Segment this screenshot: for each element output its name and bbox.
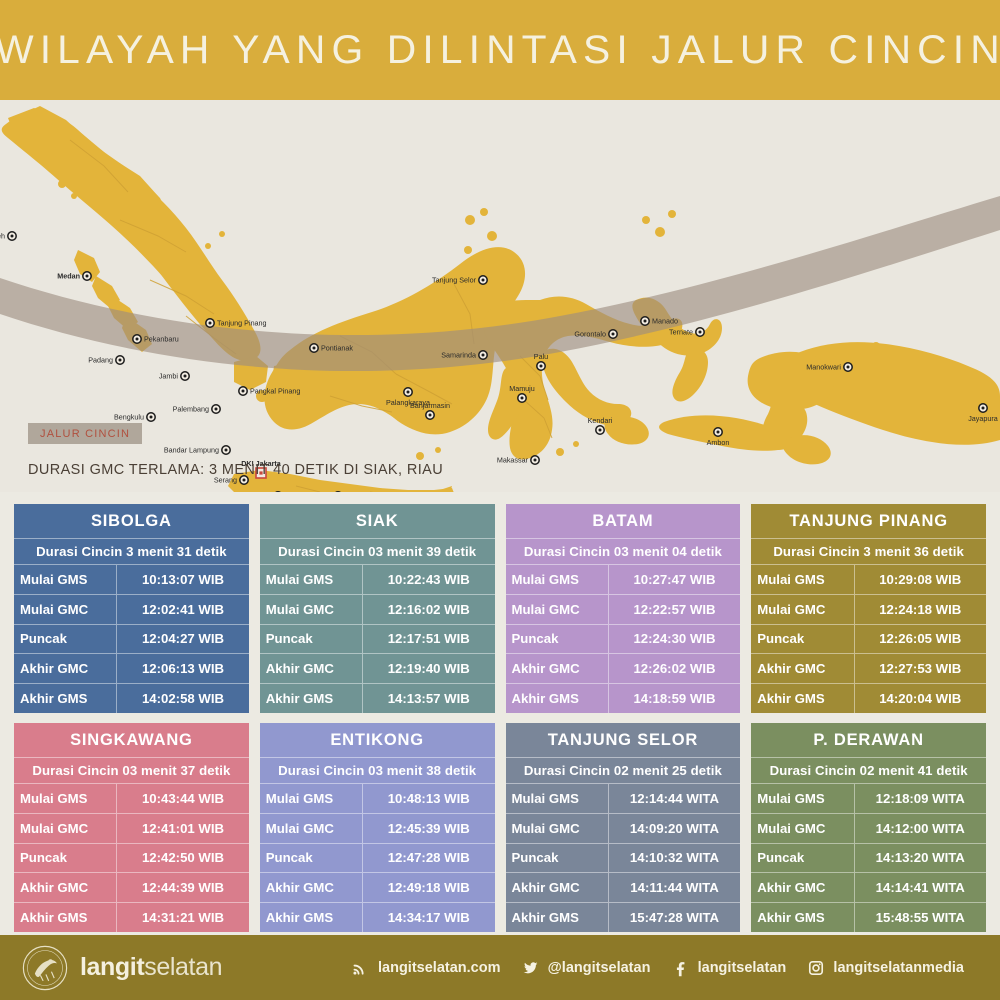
city-label: Medan [57,272,80,281]
city-label: Samarinda [441,351,476,360]
row-value: 12:41:01 WIB [117,821,248,836]
city-label: Manokwari [806,363,841,372]
card-city-name: BATAM [506,504,741,539]
row-value: 10:48:13 WIB [363,791,494,806]
city-label: Banda Aceh [0,232,5,241]
city-marker: Pekanbaru [133,335,179,344]
timing-card: SIBOLGADurasi Cincin 3 menit 31 detikMul… [14,504,249,713]
row-label: Akhir GMC [260,654,363,683]
city-label: Bandar Lampung [164,446,219,455]
table-row: Puncak12:47:28 WIB [260,844,495,874]
table-row: Mulai GMS10:43:44 WIB [14,784,249,814]
city-label: Palembang [173,405,209,414]
twitter-icon [522,959,540,977]
city-label: Tanjung Pinang [217,319,267,328]
legend-jalur-cincin: JALUR CINCIN [28,423,142,444]
row-value: 12:14:44 WITA [609,791,740,806]
city-label: Pekanbaru [144,335,179,344]
row-label: Mulai GMC [751,814,854,843]
row-label: Akhir GMS [751,903,854,932]
rss-icon [352,959,370,977]
legend-label: JALUR CINCIN [40,428,130,440]
row-value: 12:18:09 WITA [855,791,986,806]
row-label: Akhir GMS [506,903,609,932]
table-row: Akhir GMC12:26:02 WIB [506,654,741,684]
table-row: Akhir GMC14:11:44 WITA [506,873,741,903]
city-label: Ambon [707,438,730,447]
city-label: Palu [534,352,548,361]
row-value: 14:10:32 WITA [609,850,740,865]
brand-wordmark: langitselatan [80,953,222,982]
timing-card: TANJUNG PINANGDurasi Cincin 3 menit 36 d… [751,504,986,713]
row-label: Puncak [260,844,363,873]
row-label: Akhir GMS [14,903,117,932]
card-city-name: ENTIKONG [260,723,495,758]
social-label: @langitselatan [548,960,651,976]
row-value: 15:48:55 WITA [855,910,986,925]
row-value: 12:45:39 WIB [363,821,494,836]
table-row: Mulai GMC12:16:02 WIB [260,595,495,625]
row-label: Mulai GMS [260,784,363,813]
card-city-name: SINGKAWANG [14,723,249,758]
row-value: 10:29:08 WIB [855,572,986,587]
row-label: Mulai GMC [14,595,117,624]
city-label: Mamuju [509,384,535,393]
table-row: Akhir GMS14:34:17 WIB [260,903,495,932]
row-value: 10:43:44 WIB [117,791,248,806]
timing-card: BATAMDurasi Cincin 03 menit 04 detikMula… [506,504,741,713]
row-label: Mulai GMC [506,814,609,843]
row-value: 12:26:05 WIB [855,631,986,646]
row-value: 14:12:00 WITA [855,821,986,836]
row-label: Akhir GMS [506,684,609,713]
table-row: Mulai GMC12:02:41 WIB [14,595,249,625]
timing-card: ENTIKONGDurasi Cincin 03 menit 38 detikM… [260,723,495,932]
row-label: Mulai GMC [260,814,363,843]
city-marker: Manado [641,317,678,326]
card-duration: Durasi Cincin 3 menit 36 detik [751,539,986,565]
row-value: 12:19:40 WIB [363,661,494,676]
table-row: Akhir GMC14:14:41 WITA [751,873,986,903]
card-city-name: TANJUNG SELOR [506,723,741,758]
row-label: Akhir GMC [260,873,363,902]
table-row: Akhir GMS14:31:21 WIB [14,903,249,932]
table-row: Akhir GMC12:27:53 WIB [751,654,986,684]
langitselatan-seal-icon [22,945,68,991]
table-row: Mulai GMS12:18:09 WITA [751,784,986,814]
table-row: Mulai GMS10:29:08 WIB [751,565,986,595]
city-label: Pontianak [321,344,353,353]
instagram-icon [807,959,825,977]
row-label: Akhir GMC [506,654,609,683]
brand-bold: langit [80,953,144,981]
table-row: Akhir GMC12:49:18 WIB [260,873,495,903]
table-row: Mulai GMS12:14:44 WITA [506,784,741,814]
row-label: Mulai GMS [751,565,854,594]
social-label: langitselatan.com [378,960,500,976]
row-value: 14:11:44 WITA [609,880,740,895]
table-row: Mulai GMC14:12:00 WITA [751,814,986,844]
row-value: 12:47:28 WIB [363,850,494,865]
row-label: Mulai GMS [506,565,609,594]
city-label: Gorontalo [574,330,606,339]
row-value: 12:42:50 WIB [117,850,248,865]
row-label: Puncak [506,844,609,873]
row-value: 12:06:13 WIB [117,661,248,676]
row-value: 12:04:27 WIB [117,631,248,646]
city-label: Jambi [159,372,179,381]
city-marker: Ternate [669,328,704,337]
row-label: Akhir GMC [14,873,117,902]
table-row: Puncak12:42:50 WIB [14,844,249,874]
row-value: 14:14:41 WITA [855,880,986,895]
row-value: 10:27:47 WIB [609,572,740,587]
row-label: Puncak [14,625,117,654]
card-duration: Durasi Cincin 02 menit 25 detik [506,758,741,784]
row-value: 12:44:39 WIB [117,880,248,895]
row-value: 12:16:02 WIB [363,602,494,617]
row-value: 10:22:43 WIB [363,572,494,587]
city-label: Banjarmasin [410,401,450,410]
row-value: 14:13:57 WIB [363,691,494,706]
row-value: 12:02:41 WIB [117,602,248,617]
card-duration: Durasi Cincin 3 menit 31 detik [14,539,249,565]
table-row: Akhir GMC12:44:39 WIB [14,873,249,903]
table-row: Akhir GMS14:20:04 WIB [751,684,986,713]
row-label: Puncak [260,625,363,654]
row-label: Akhir GMC [751,654,854,683]
row-label: Akhir GMS [14,684,117,713]
table-row: Akhir GMS14:18:59 WIB [506,684,741,713]
facebook-icon [672,959,690,977]
table-row: Akhir GMS14:13:57 WIB [260,684,495,713]
row-label: Mulai GMC [751,595,854,624]
city-marker: Manokwari [806,363,852,372]
card-city-name: TANJUNG PINANG [751,504,986,539]
city-label: Kendari [588,416,613,425]
table-row: Mulai GMS10:48:13 WIB [260,784,495,814]
city-marker: Gorontalo [574,330,617,339]
row-label: Akhir GMS [260,684,363,713]
row-label: Akhir GMC [751,873,854,902]
table-row: Akhir GMS14:02:58 WIB [14,684,249,713]
table-row: Mulai GMS10:13:07 WIB [14,565,249,595]
row-value: 14:13:20 WITA [855,850,986,865]
card-city-name: SIAK [260,504,495,539]
row-value: 14:18:59 WIB [609,691,740,706]
row-label: Mulai GMC [260,595,363,624]
row-value: 12:24:18 WIB [855,602,986,617]
row-label: Puncak [14,844,117,873]
card-duration: Durasi Cincin 02 menit 41 detik [751,758,986,784]
card-duration: Durasi Cincin 03 menit 04 detik [506,539,741,565]
row-value: 14:31:21 WIB [117,910,248,925]
row-value: 12:22:57 WIB [609,602,740,617]
city-timing-cards: SIBOLGADurasi Cincin 3 menit 31 detikMul… [0,492,1000,932]
city-label: Pangkal Pinang [250,387,300,396]
city-label: Jayapura [968,414,998,423]
social-link[interactable]: langitselatanmedia [807,959,964,977]
city-marker: Pontianak [310,344,354,353]
row-value: 12:49:18 WIB [363,880,494,895]
row-label: Mulai GMS [260,565,363,594]
city-label: Makassar [497,456,529,465]
card-duration: Durasi Cincin 03 menit 38 detik [260,758,495,784]
timing-card: P. DERAWANDurasi Cincin 02 menit 41 deti… [751,723,986,932]
row-value: 14:09:20 WITA [609,821,740,836]
card-city-name: P. DERAWAN [751,723,986,758]
table-row: Puncak14:10:32 WITA [506,844,741,874]
city-marker: Samarinda [441,351,487,360]
table-row: Puncak12:04:27 WIB [14,625,249,655]
table-row: Mulai GMC14:09:20 WITA [506,814,741,844]
social-label: langitselatan [698,960,787,976]
infographic-page: WILAYAH YANG DILINTASI JALUR CINCIN [0,0,1000,1000]
table-row: Mulai GMS10:27:47 WIB [506,565,741,595]
table-row: Mulai GMS10:22:43 WIB [260,565,495,595]
row-value: 10:13:07 WIB [117,572,248,587]
timing-card: SIAKDurasi Cincin 03 menit 39 detikMulai… [260,504,495,713]
row-value: 12:26:02 WIB [609,661,740,676]
table-row: Mulai GMC12:24:18 WIB [751,595,986,625]
row-value: 15:47:28 WITA [609,910,740,925]
social-label: langitselatanmedia [833,960,964,976]
timing-card: TANJUNG SELORDurasi Cincin 02 menit 25 d… [506,723,741,932]
map-area: Banda AcehMedanPekanbaruPadangTanjung Pi… [0,100,1000,492]
table-row: Mulai GMC12:45:39 WIB [260,814,495,844]
city-label: Bengkulu [114,413,144,422]
card-city-name: SIBOLGA [14,504,249,539]
timing-card: SINGKAWANGDurasi Cincin 03 menit 37 deti… [14,723,249,932]
table-row: Puncak14:13:20 WITA [751,844,986,874]
row-label: Mulai GMS [14,565,117,594]
table-row: Puncak12:24:30 WIB [506,625,741,655]
card-duration: Durasi Cincin 03 menit 39 detik [260,539,495,565]
row-label: Puncak [506,625,609,654]
table-row: Akhir GMC12:06:13 WIB [14,654,249,684]
row-label: Puncak [751,625,854,654]
social-links: langitselatan.com@langitselatanlangitsel… [352,959,978,977]
row-label: Mulai GMS [14,784,117,813]
map-caption: DURASI GMC TERLAMA: 3 MENIT 40 DETIK DI … [28,462,443,478]
row-label: Mulai GMC [506,595,609,624]
row-label: Akhir GMC [506,873,609,902]
city-marker: Palembang [173,405,221,414]
row-value: 12:27:53 WIB [855,661,986,676]
indonesia-map: Banda AcehMedanPekanbaruPadangTanjung Pi… [0,100,1000,492]
row-label: Mulai GMS [751,784,854,813]
table-row: Puncak12:26:05 WIB [751,625,986,655]
row-value: 12:24:30 WIB [609,631,740,646]
social-link[interactable]: langitselatan.com [352,959,500,977]
row-value: 14:20:04 WIB [855,691,986,706]
row-label: Akhir GMC [14,654,117,683]
row-label: Mulai GMS [506,784,609,813]
table-row: Mulai GMC12:22:57 WIB [506,595,741,625]
row-label: Puncak [751,844,854,873]
row-label: Akhir GMS [751,684,854,713]
city-marker: Makassar [497,456,539,465]
table-row: Akhir GMS15:48:55 WITA [751,903,986,932]
table-row: Puncak12:17:51 WIB [260,625,495,655]
table-row: Mulai GMC12:41:01 WIB [14,814,249,844]
title-bar: WILAYAH YANG DILINTASI JALUR CINCIN [0,0,1000,100]
table-row: Akhir GMS15:47:28 WITA [506,903,741,932]
footer-bar: langitselatan langitselatan.com@langitse… [0,932,1000,1000]
city-marker: Medan [57,272,91,281]
row-value: 14:02:58 WIB [117,691,248,706]
row-value: 12:17:51 WIB [363,631,494,646]
city-label: Padang [88,356,113,365]
page-title: WILAYAH YANG DILINTASI JALUR CINCIN [0,28,1000,73]
city-marker: Jambi [159,372,189,381]
city-label: Ternate [669,328,693,337]
city-marker: Bengkulu [114,413,155,422]
table-row: Akhir GMC12:19:40 WIB [260,654,495,684]
row-value: 14:34:17 WIB [363,910,494,925]
card-duration: Durasi Cincin 03 menit 37 detik [14,758,249,784]
social-link[interactable]: langitselatan [672,959,787,977]
city-marker: Padang [88,356,124,365]
city-label: Tanjung Selor [432,276,477,285]
brand-light: selatan [144,953,222,981]
city-label: Manado [652,317,678,326]
brand: langitselatan [22,945,352,991]
social-link[interactable]: @langitselatan [522,959,651,977]
row-label: Akhir GMS [260,903,363,932]
row-label: Mulai GMC [14,814,117,843]
